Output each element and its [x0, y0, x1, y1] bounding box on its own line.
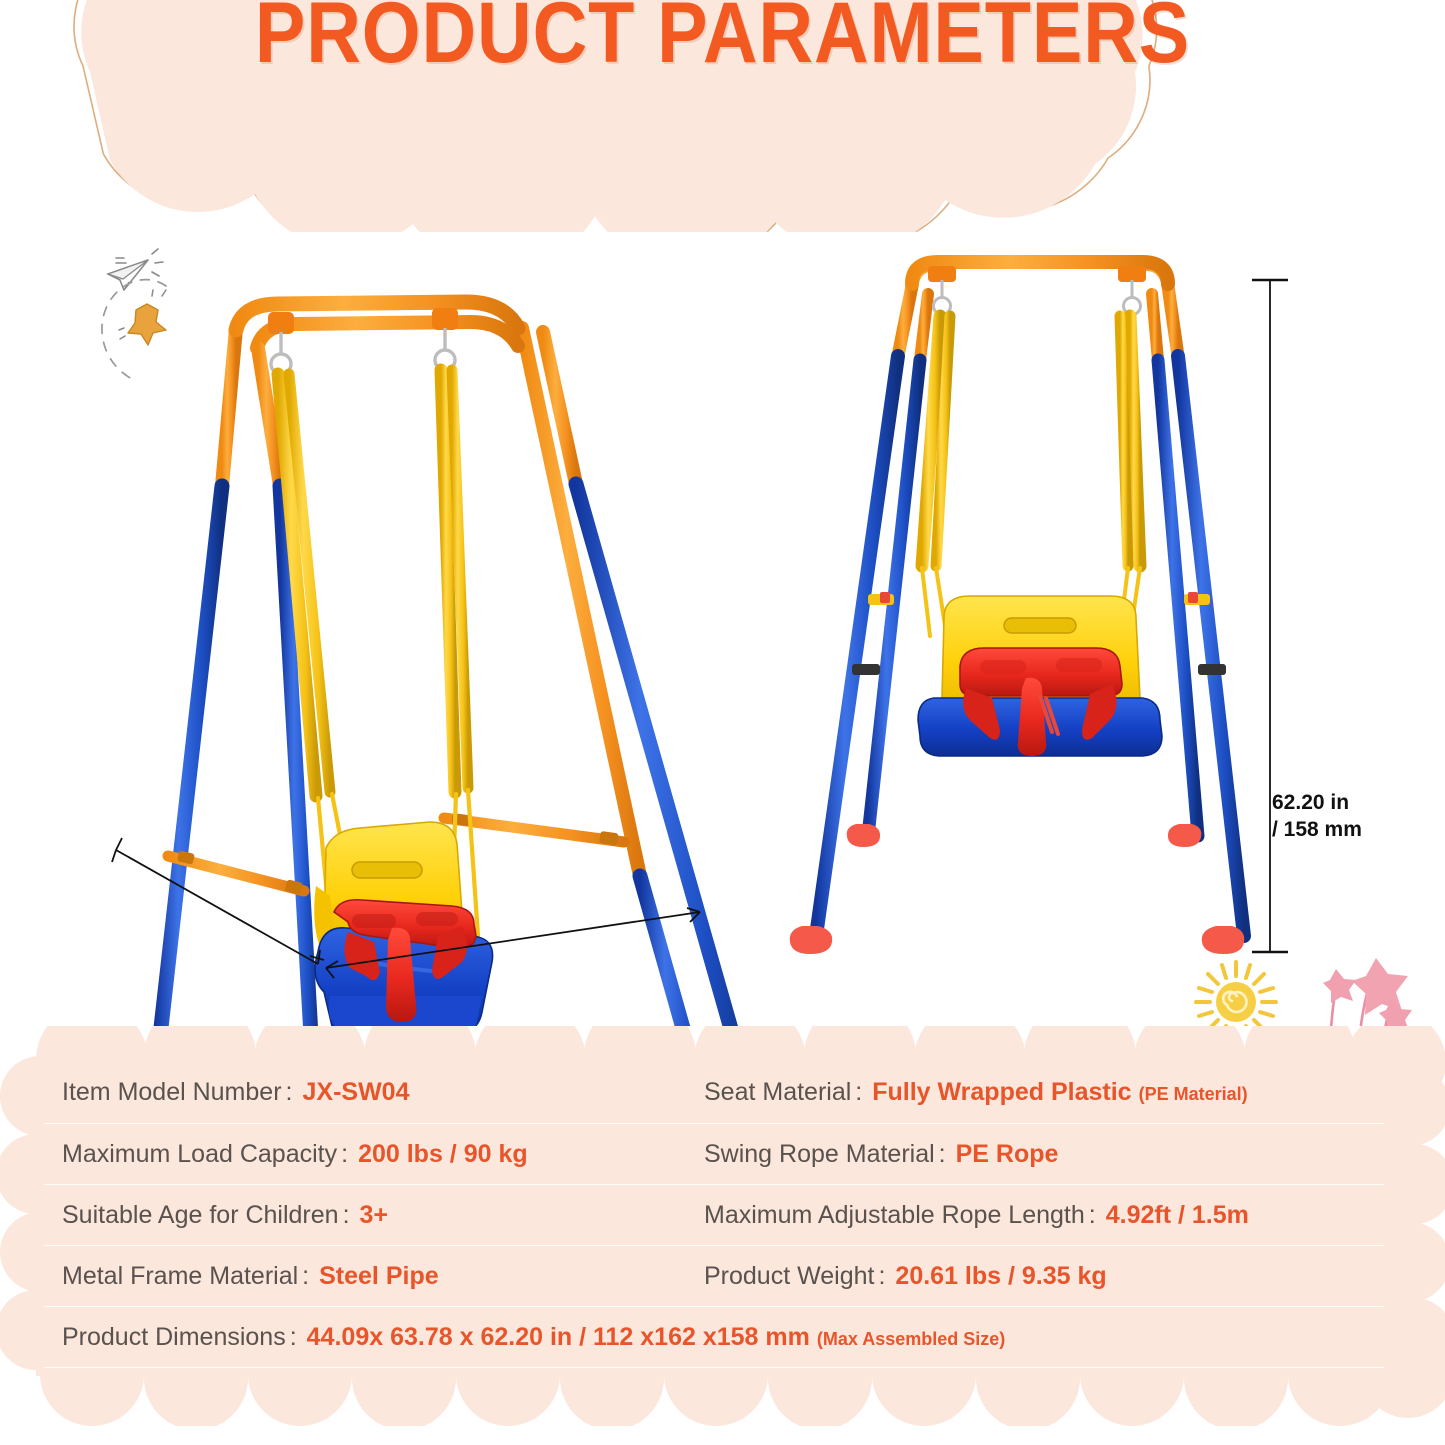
spec-separator: :	[282, 1078, 297, 1107]
spec-table: Item Model Number : JX-SW04 Seat Materia…	[44, 1062, 1384, 1368]
spec-key: Metal Frame Material	[62, 1262, 298, 1291]
spec-key: Suitable Age for Children	[62, 1201, 339, 1230]
star-icon	[102, 280, 166, 380]
spec-product-dimensions: Product Dimensions : 44.09x 63.78 x 62.2…	[44, 1323, 1384, 1352]
swing-hanger-left	[268, 312, 294, 374]
spec-separator: :	[851, 1078, 866, 1107]
spec-item-model-number: Item Model Number : JX-SW04	[44, 1078, 704, 1107]
swing-set-front-view	[790, 262, 1245, 954]
spec-key: Item Model Number	[62, 1078, 282, 1107]
sun-icon	[1196, 962, 1276, 1026]
spec-separator: :	[1085, 1201, 1100, 1230]
spec-max-load-capacity: Maximum Load Capacity : 200 lbs / 90 kg	[44, 1140, 704, 1169]
spec-value: JX-SW04	[296, 1078, 409, 1107]
table-row: Product Dimensions : 44.09x 63.78 x 62.2…	[44, 1306, 1384, 1367]
spec-value: PE Rope	[950, 1140, 1059, 1169]
spec-panel: Item Model Number : JX-SW04 Seat Materia…	[0, 1026, 1445, 1426]
paper-plane-icon	[108, 249, 163, 290]
spec-note: (Max Assembled Size)	[810, 1329, 1005, 1350]
spec-key: Product Weight	[704, 1262, 874, 1291]
table-row: Item Model Number : JX-SW04 Seat Materia…	[44, 1062, 1384, 1123]
swing-set-perspective-view	[130, 302, 767, 1026]
spec-key: Product Dimensions	[62, 1323, 286, 1352]
spec-value: 4.92ft / 1.5m	[1100, 1201, 1249, 1230]
spec-value: Steel Pipe	[313, 1262, 439, 1291]
spec-swing-rope-material: Swing Rope Material : PE Rope	[704, 1140, 1384, 1169]
spec-max-rope-length: Maximum Adjustable Rope Length : 4.92ft …	[704, 1201, 1384, 1230]
spec-seat-material: Seat Material : Fully Wrapped Plastic (P…	[704, 1078, 1384, 1107]
swing-seat-perspective	[314, 822, 492, 1026]
spec-note: (PE Material)	[1132, 1084, 1248, 1105]
dimension-label-height: 62.20 in / 158 mm	[1272, 790, 1362, 844]
spec-value: Fully Wrapped Plastic	[866, 1078, 1131, 1107]
swing-hanger-right	[432, 308, 458, 370]
spec-separator: :	[286, 1323, 301, 1352]
spec-key: Swing Rope Material	[704, 1140, 935, 1169]
spec-key: Maximum Load Capacity	[62, 1140, 337, 1169]
spec-key: Maximum Adjustable Rope Length	[704, 1201, 1085, 1230]
spec-key: Seat Material	[704, 1078, 851, 1107]
spec-value: 20.61 lbs / 9.35 kg	[889, 1262, 1106, 1291]
frame-cross-brace-left	[168, 850, 304, 895]
page-title: PRODUCT PARAMETERS	[87, 0, 1359, 83]
spec-value: 44.09x 63.78 x 62.20 in / 112 x162 x158 …	[301, 1323, 810, 1352]
spec-suitable-age: Suitable Age for Children : 3+	[44, 1201, 704, 1230]
dimension-height-line2: / 158 mm	[1272, 818, 1362, 841]
spec-value: 3+	[354, 1201, 389, 1230]
spec-separator: :	[935, 1140, 950, 1169]
infographic-canvas: PRODUCT PARAMETERS	[0, 0, 1445, 1445]
spec-separator: :	[337, 1140, 352, 1169]
table-row: Metal Frame Material : Steel Pipe Produc…	[44, 1245, 1384, 1306]
table-row: Suitable Age for Children : 3+ Maximum A…	[44, 1184, 1384, 1245]
table-row: Maximum Load Capacity : 200 lbs / 90 kg …	[44, 1123, 1384, 1184]
product-illustration: 63.78 in / 162 mm 44.09 in / 112 mm 62.2…	[0, 236, 1445, 1026]
swing-seat-front	[918, 596, 1162, 756]
spec-product-weight: Product Weight : 20.61 lbs / 9.35 kg	[704, 1262, 1384, 1291]
front-feet	[790, 824, 1245, 954]
flower-icon	[1323, 958, 1412, 1026]
frame-leg-rear-left	[155, 328, 236, 1026]
spec-separator: :	[874, 1262, 889, 1291]
swing-rope-right	[441, 370, 468, 792]
dimension-height-line1: 62.20 in	[1272, 791, 1349, 814]
spec-value: 200 lbs / 90 kg	[352, 1140, 528, 1169]
table-row-bottom-rule	[44, 1367, 1384, 1368]
spec-separator: :	[339, 1201, 354, 1230]
front-swing-ropes	[922, 316, 1140, 636]
spec-separator: :	[298, 1262, 313, 1291]
front-hanger-right	[1118, 266, 1146, 315]
header-banner: PRODUCT PARAMETERS	[0, 0, 1445, 232]
spec-metal-frame-material: Metal Frame Material : Steel Pipe	[44, 1262, 704, 1291]
